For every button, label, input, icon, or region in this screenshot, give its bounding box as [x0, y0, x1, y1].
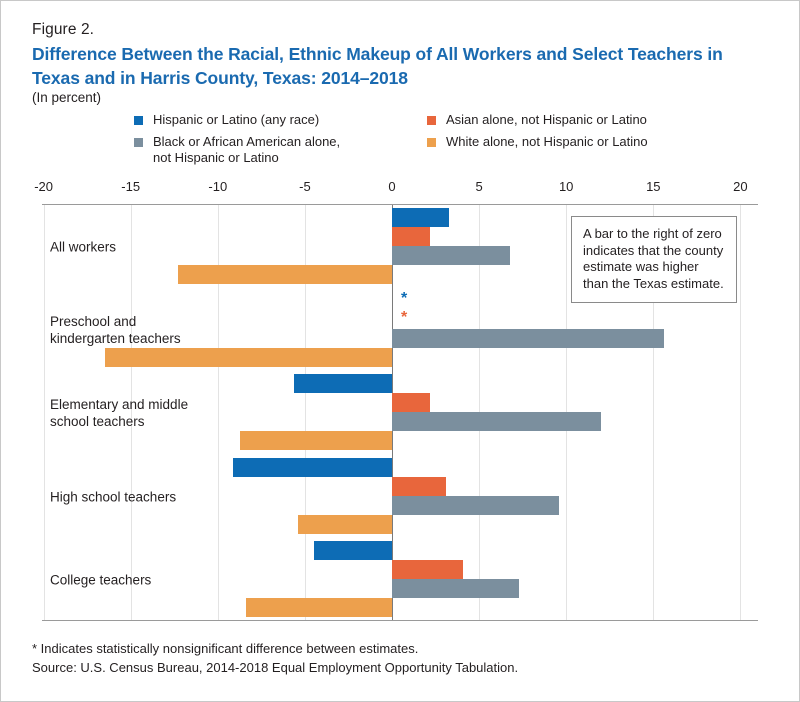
legend-swatch-icon	[427, 116, 436, 125]
legend-label: White alone, not Hispanic or Latino	[446, 134, 648, 150]
bar	[392, 579, 519, 598]
legend-item[interactable]: Black or African American alone, not His…	[134, 134, 340, 166]
legend-swatch-icon	[427, 138, 436, 147]
category-label: Preschool and kindergarten teachers	[50, 313, 181, 347]
annotation-box: A bar to the right of zero indicates tha…	[571, 216, 737, 303]
footnote-source: Source: U.S. Census Bureau, 2014-2018 Eq…	[32, 660, 518, 675]
legend-item[interactable]: White alone, not Hispanic or Latino	[427, 134, 648, 150]
figure-subtitle: (In percent)	[32, 90, 101, 105]
legend-item[interactable]: Asian alone, not Hispanic or Latino	[427, 112, 648, 128]
x-tick-label: 0	[388, 179, 395, 194]
x-tick-label: -20	[34, 179, 53, 194]
x-axis-ticks: -20-15-10-505101520	[1, 179, 800, 199]
x-tick-label: 5	[475, 179, 482, 194]
bar	[233, 458, 392, 477]
x-tick-label: -15	[121, 179, 140, 194]
category-label: High school teachers	[50, 488, 176, 505]
bar	[314, 541, 392, 560]
bar	[392, 329, 664, 348]
bar	[392, 227, 430, 246]
x-tick-label: -10	[208, 179, 227, 194]
nonsignificant-asterisk: *	[401, 311, 407, 325]
bar	[392, 393, 430, 412]
figure-title: Difference Between the Racial, Ethnic Ma…	[32, 43, 737, 91]
bar	[392, 208, 449, 227]
legend-item[interactable]: Hispanic or Latino (any race)	[134, 112, 340, 128]
figure-number: Figure 2.	[32, 21, 94, 39]
chart-legend: Hispanic or Latino (any race)Black or Af…	[134, 112, 754, 162]
legend-label: Asian alone, not Hispanic or Latino	[446, 112, 647, 128]
legend-label: Hispanic or Latino (any race)	[153, 112, 319, 128]
x-tick-label: -5	[299, 179, 311, 194]
x-tick-label: 15	[646, 179, 660, 194]
bar	[105, 348, 392, 367]
legend-label: Black or African American alone, not His…	[153, 134, 340, 166]
bar-group: College teachers	[42, 539, 758, 622]
legend-column-2: Asian alone, not Hispanic or LatinoWhite…	[427, 112, 648, 156]
bar	[246, 598, 392, 617]
figure-container: Figure 2. Difference Between the Racial,…	[0, 0, 800, 702]
bar	[392, 412, 601, 431]
category-label: All workers	[50, 238, 116, 255]
bar	[392, 560, 463, 579]
bar-group: High school teachers	[42, 455, 758, 538]
footnote-significance: * Indicates statistically nonsignificant…	[32, 641, 418, 656]
legend-swatch-icon	[134, 138, 143, 147]
x-tick-label: 20	[733, 179, 747, 194]
bar	[294, 374, 392, 393]
bar	[298, 515, 392, 534]
nonsignificant-asterisk: *	[401, 292, 407, 306]
legend-column-1: Hispanic or Latino (any race)Black or Af…	[134, 112, 340, 172]
bar	[392, 246, 510, 265]
bar	[240, 431, 392, 450]
category-label: Elementary and middle school teachers	[50, 396, 188, 430]
bar	[392, 496, 559, 515]
x-tick-label: 10	[559, 179, 573, 194]
category-label: College teachers	[50, 572, 151, 589]
bar	[392, 477, 446, 496]
legend-swatch-icon	[134, 116, 143, 125]
bar	[178, 265, 392, 284]
bar-group: Elementary and middle school teachers	[42, 372, 758, 455]
